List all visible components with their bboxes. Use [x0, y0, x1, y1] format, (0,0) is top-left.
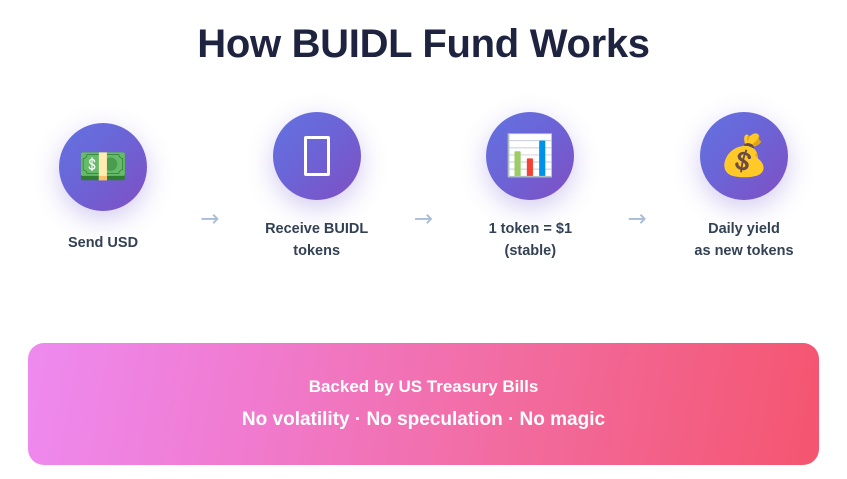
flow-step-token-peg: 📊 1 token = $1 (stable) [455, 112, 605, 263]
step-label-4-line1: Daily yield [694, 218, 793, 240]
banknote-icon: 💵 [78, 147, 128, 187]
step-label-3-line1: 1 token = $1 [489, 218, 572, 240]
step-label-3-line2: (stable) [489, 240, 572, 262]
step-label-3: 1 token = $1 (stable) [489, 218, 572, 263]
step-label-2: Receive BUIDL tokens [265, 218, 368, 263]
flow-arrow-2-icon: → [404, 208, 442, 231]
money-bag-icon: 💰 [719, 136, 769, 176]
step-label-2-line2: tokens [265, 240, 368, 262]
flow-steps: 💵 Send USD → Receive BUIDL tokens → 📊 [28, 112, 819, 302]
step-label-1: Send USD [68, 232, 138, 254]
flow-step-send-usd: 💵 Send USD [28, 112, 178, 254]
step-label-2-line1: Receive BUIDL [265, 218, 368, 240]
step-icon-circle-1: 💵 [59, 123, 147, 211]
banner-headline: Backed by US Treasury Bills [309, 375, 539, 399]
step-icon-circle-4: 💰 [700, 112, 788, 200]
backing-banner: Backed by US Treasury Bills No volatilit… [28, 343, 819, 465]
flow-step-daily-yield: 💰 Daily yield as new tokens [669, 112, 819, 263]
missing-glyph-icon [304, 136, 330, 176]
step-label-4: Daily yield as new tokens [694, 218, 793, 263]
step-label-1-line1: Send USD [68, 232, 138, 254]
page-title: How BUIDL Fund Works [0, 18, 847, 70]
flow-step-receive-buidl: Receive BUIDL tokens [242, 112, 392, 263]
banner-subline: No volatility · No speculation · No magi… [242, 407, 605, 434]
step-icon-circle-3: 📊 [486, 112, 574, 200]
step-label-4-line2: as new tokens [694, 240, 793, 262]
step-icon-circle-2 [273, 112, 361, 200]
how-it-works-page: How BUIDL Fund Works 💵 Send USD → Receiv… [0, 0, 847, 479]
flow-arrow-1-icon: → [191, 208, 229, 231]
bar-chart-icon: 📊 [505, 136, 555, 176]
flow-arrow-3-icon: → [618, 208, 656, 231]
